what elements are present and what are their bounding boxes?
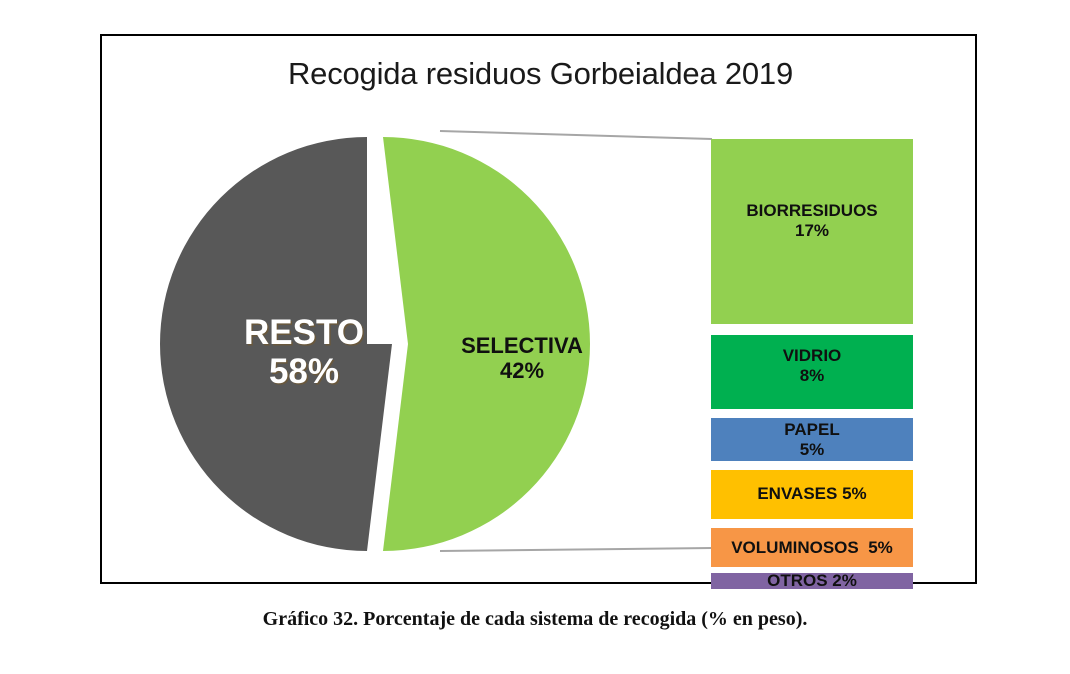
connector-line-top bbox=[440, 131, 712, 139]
chart-frame: Recogida residuos Gorbeialdea 2019 RESTO… bbox=[100, 34, 977, 584]
pie-label-resto: RESTO 58% bbox=[214, 313, 394, 391]
pie-label-resto-value: 58% bbox=[214, 352, 394, 391]
connector-line-bottom bbox=[440, 548, 712, 551]
bar-segment-voluminosos-value: 5% bbox=[863, 538, 892, 557]
pie-label-selectiva-name: SELECTIVA bbox=[432, 334, 612, 359]
bar-segment-vidrio[interactable]: VIDRIO 8% bbox=[711, 335, 913, 409]
figure-caption: Gráfico 32. Porcentaje de cada sistema d… bbox=[0, 608, 1070, 631]
pie-label-selectiva: SELECTIVA 42% bbox=[432, 334, 612, 383]
bar-segment-biorresiduos[interactable]: BIORRESIDUOS 17% bbox=[711, 139, 913, 324]
bar-segment-envases-label: ENVASES bbox=[757, 484, 837, 503]
bar-segment-otros[interactable]: OTROS 2% bbox=[711, 573, 913, 589]
bar-segment-voluminosos-label: VOLUMINOSOS bbox=[731, 538, 859, 557]
bar-segment-biorresiduos-value: 17% bbox=[711, 221, 913, 241]
bar-segment-papel-label: PAPEL bbox=[711, 420, 913, 440]
bar-segment-biorresiduos-label: BIORRESIDUOS bbox=[711, 201, 913, 221]
bar-segment-envases-value: 5% bbox=[842, 484, 867, 503]
bar-segment-vidrio-value: 8% bbox=[711, 366, 913, 386]
bar-segment-papel[interactable]: PAPEL 5% bbox=[711, 418, 913, 461]
pie-label-selectiva-value: 42% bbox=[432, 359, 612, 384]
screenshot-root: Recogida residuos Gorbeialdea 2019 RESTO… bbox=[0, 0, 1070, 674]
bar-segment-envases[interactable]: ENVASES 5% bbox=[711, 470, 913, 519]
pie-label-resto-name: RESTO bbox=[214, 313, 394, 352]
bar-segment-otros-label: OTROS bbox=[767, 571, 827, 590]
bar-segment-otros-value: 2% bbox=[832, 571, 857, 590]
bar-segment-vidrio-label: VIDRIO bbox=[711, 346, 913, 366]
bar-segment-papel-value: 5% bbox=[711, 440, 913, 460]
bar-segment-voluminosos[interactable]: VOLUMINOSOS 5% bbox=[711, 528, 913, 567]
